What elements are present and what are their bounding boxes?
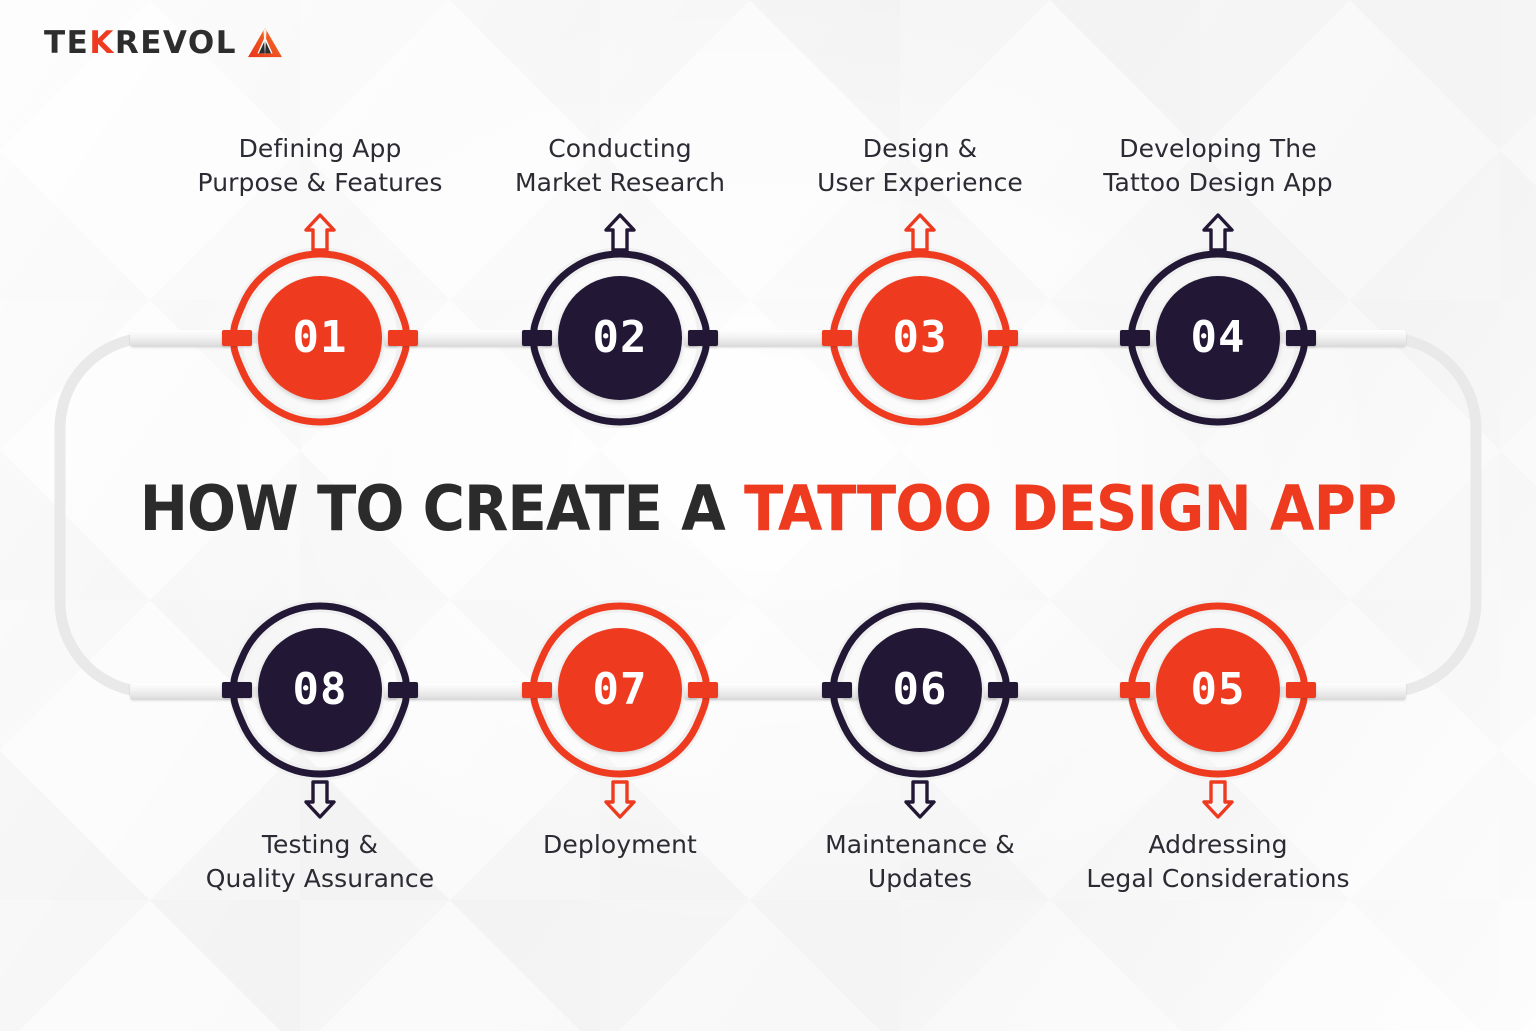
step-stub-right-04 (1286, 330, 1316, 346)
step-number-06: 06 (893, 668, 948, 712)
step-label-08-line2: Quality Assurance (155, 862, 485, 896)
step-inner-06: 06 (858, 628, 982, 752)
step-label-01-line1: Defining App (155, 132, 485, 166)
arrow-down-icon-05 (1201, 778, 1235, 820)
step-stub-right-03 (988, 330, 1018, 346)
step-label-06-line1: Maintenance & (755, 828, 1085, 862)
arrow-up-icon-03 (903, 212, 937, 254)
step-inner-02: 02 (558, 276, 682, 400)
step-stub-right-02 (688, 330, 718, 346)
step-number-04: 04 (1191, 316, 1246, 360)
step-label-05-line1: Addressing (1053, 828, 1383, 862)
step-stub-right-05 (1286, 682, 1316, 698)
arrow-up-icon-04 (1201, 212, 1235, 254)
logo-word-prefix: TE (44, 28, 89, 59)
step-label-06-line2: Updates (755, 862, 1085, 896)
step-inner-03: 03 (858, 276, 982, 400)
step-label-06: Maintenance & Updates (755, 828, 1085, 896)
step-badge-02[interactable]: 02 (530, 248, 710, 428)
arrow-up-icon-01 (303, 212, 337, 254)
step-stub-left-05 (1120, 682, 1150, 698)
page-title-red: TATTOO DESIGN APP (744, 472, 1396, 545)
step-label-04-line2: Tattoo Design App (1053, 166, 1383, 200)
step-inner-01: 01 (258, 276, 382, 400)
logo-word-accent: K (89, 28, 115, 59)
step-number-08: 08 (293, 668, 348, 712)
step-label-05-line2: Legal Considerations (1053, 862, 1383, 896)
arrow-down-icon-06 (903, 778, 937, 820)
logo-wordmark: TEKREVOL (44, 28, 237, 59)
step-label-04-line1: Developing The (1053, 132, 1383, 166)
step-stub-left-03 (822, 330, 852, 346)
infographic-canvas: TEKREVOL (0, 0, 1536, 1031)
arrow-down-icon-07 (603, 778, 637, 820)
step-stub-left-01 (222, 330, 252, 346)
step-label-08-line1: Testing & (155, 828, 485, 862)
step-badge-04[interactable]: 04 (1128, 248, 1308, 428)
step-number-01: 01 (293, 316, 348, 360)
step-number-07: 07 (593, 668, 648, 712)
step-label-03-line2: User Experience (755, 166, 1085, 200)
step-stub-left-06 (822, 682, 852, 698)
step-badge-08[interactable]: 08 (230, 600, 410, 780)
step-badge-03[interactable]: 03 (830, 248, 1010, 428)
step-label-07: Deployment (455, 828, 785, 862)
tekrevol-logo[interactable]: TEKREVOL (44, 26, 284, 60)
step-stub-left-08 (222, 682, 252, 698)
page-title-dark: HOW TO CREATE A (140, 472, 744, 545)
step-stub-right-01 (388, 330, 418, 346)
step-badge-07[interactable]: 07 (530, 600, 710, 780)
step-label-01-line2: Purpose & Features (155, 166, 485, 200)
step-label-08: Testing & Quality Assurance (155, 828, 485, 896)
step-inner-05: 05 (1156, 628, 1280, 752)
step-inner-07: 07 (558, 628, 682, 752)
arrow-up-icon-02 (603, 212, 637, 254)
step-label-07-line1: Deployment (455, 828, 785, 862)
step-label-01: Defining App Purpose & Features (155, 132, 485, 200)
arrow-down-icon-08 (303, 778, 337, 820)
page-title: HOW TO CREATE A TATTOO DESIGN APP (54, 478, 1482, 540)
step-stub-left-02 (522, 330, 552, 346)
step-badge-05[interactable]: 05 (1128, 600, 1308, 780)
tekrevol-triangle-mark-icon (246, 26, 284, 60)
step-label-02: Conducting Market Research (455, 132, 785, 200)
step-inner-04: 04 (1156, 276, 1280, 400)
step-stub-right-08 (388, 682, 418, 698)
step-number-05: 05 (1191, 668, 1246, 712)
step-stub-right-07 (688, 682, 718, 698)
step-label-02-line1: Conducting (455, 132, 785, 166)
step-label-04: Developing The Tattoo Design App (1053, 132, 1383, 200)
step-label-02-line2: Market Research (455, 166, 785, 200)
step-number-02: 02 (593, 316, 648, 360)
step-inner-08: 08 (258, 628, 382, 752)
logo-word-suffix: REVOL (115, 28, 237, 59)
step-label-03-line1: Design & (755, 132, 1085, 166)
step-label-05: Addressing Legal Considerations (1053, 828, 1383, 896)
step-stub-left-04 (1120, 330, 1150, 346)
step-stub-left-07 (522, 682, 552, 698)
step-badge-06[interactable]: 06 (830, 600, 1010, 780)
step-badge-01[interactable]: 01 (230, 248, 410, 428)
step-number-03: 03 (893, 316, 948, 360)
step-stub-right-06 (988, 682, 1018, 698)
step-label-03: Design & User Experience (755, 132, 1085, 200)
